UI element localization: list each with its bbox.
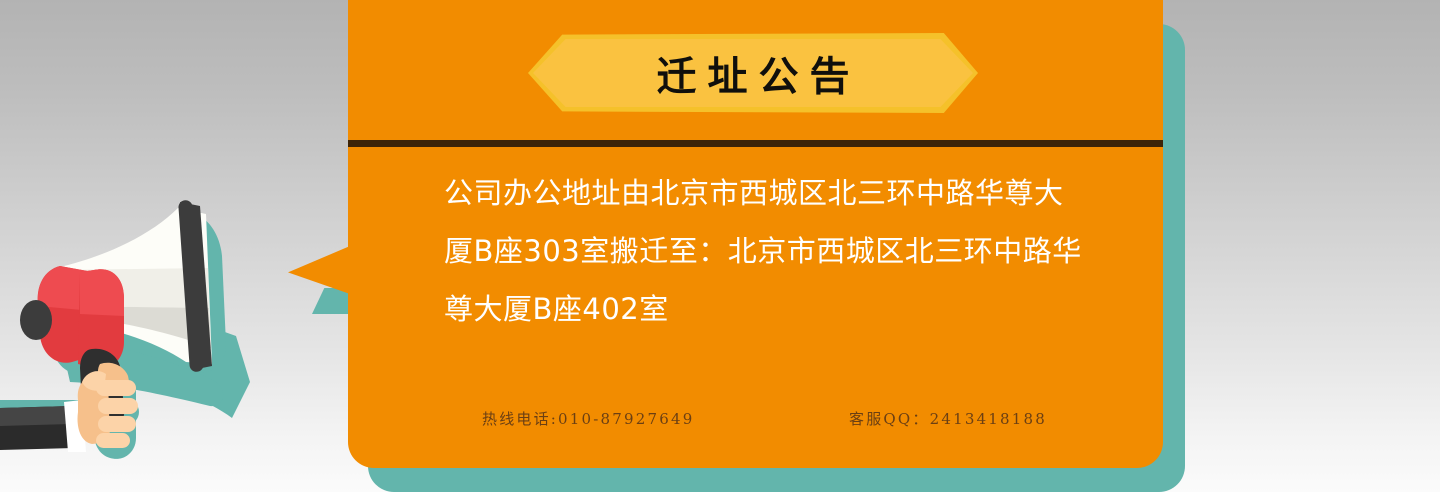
title-banner: 迁址公告 [528, 33, 978, 113]
contact-footer: 热线电话:010-87927649 客服QQ：2413418188 [444, 408, 1090, 434]
header-divider [348, 140, 1163, 147]
suit-sleeve [0, 400, 86, 452]
announcement-body: 公司办公地址由北京市西城区北三环中路华尊大厦B座303室搬迁至：北京市西城区北三… [444, 164, 1090, 338]
hotline-phone: 热线电话:010-87927649 [482, 408, 695, 429]
page-title: 迁址公告 [528, 33, 978, 113]
announcement-banner-image: 迁址公告 公司办公地址由北京市西城区北三环中路华尊大厦B座303室搬迁至：北京市… [0, 0, 1440, 492]
service-qq: 客服QQ：2413418188 [849, 408, 1047, 429]
megaphone-illustration [0, 186, 300, 492]
